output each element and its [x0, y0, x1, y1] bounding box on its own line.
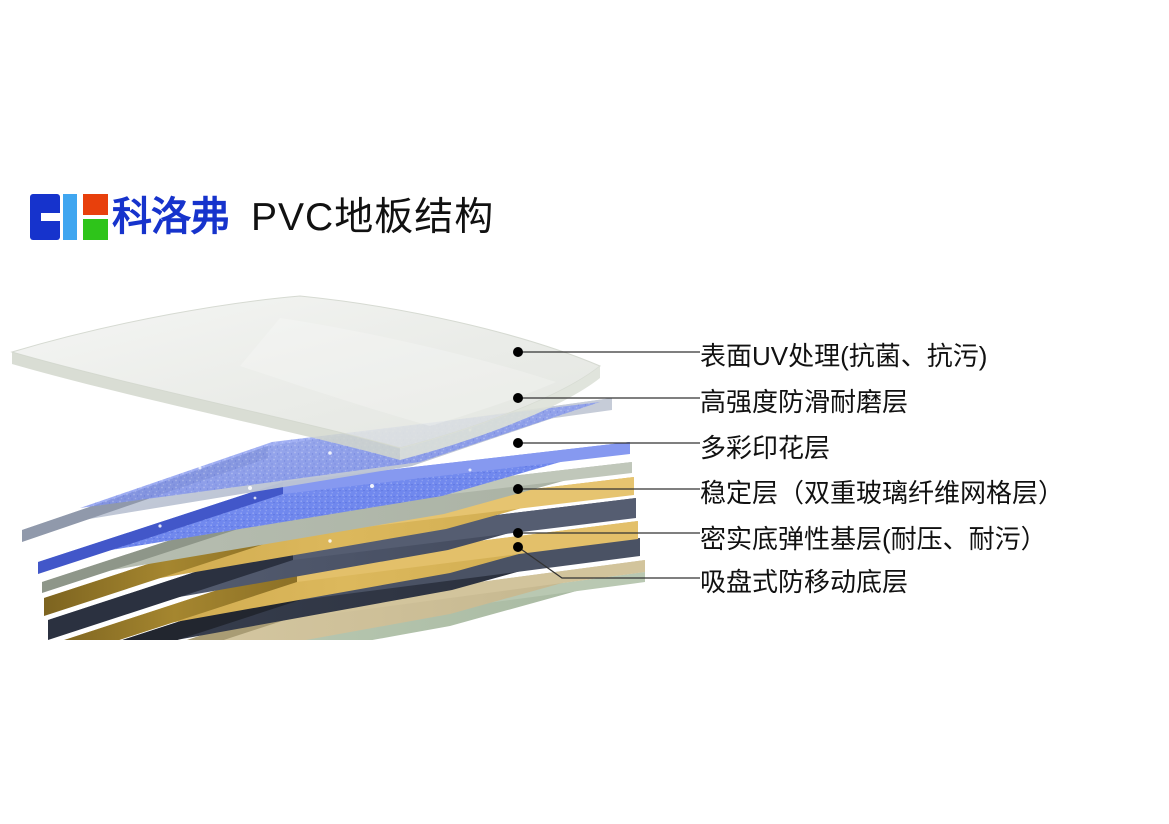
page-title: PVC地板结构	[251, 198, 494, 237]
header: 科洛弗 PVC地板结构	[30, 186, 494, 248]
logo-square-green-icon	[83, 219, 108, 240]
brand-name: 科洛弗	[112, 197, 229, 237]
layer-label-suction-bottom: 吸盘式防移动底层	[700, 562, 908, 599]
layer-label-stabilising-mesh: 稳定层（双重玻璃纤维网格层）	[700, 473, 1064, 510]
layer-label-dense-base: 密实底弹性基层(耐压、耐污）	[700, 519, 1047, 556]
leader-dot-5	[513, 542, 523, 552]
layer-label-wear-layer: 高强度防滑耐磨层	[700, 382, 908, 419]
brand-logo-mark	[30, 194, 108, 240]
logo-square-orange-icon	[83, 194, 108, 215]
logo-c-shape-icon	[30, 194, 60, 240]
leader-dot-0	[513, 347, 523, 357]
leader-dot-4	[513, 528, 523, 538]
logo-c-notch	[41, 213, 62, 221]
pvc-floor-structure-infographic: 科洛弗 PVC地板结构	[0, 0, 1169, 824]
leader-dot-1	[513, 393, 523, 403]
layer-plate-uv-coating	[12, 296, 600, 460]
leader-dot-2	[513, 438, 523, 448]
layer-label-printed-film: 多彩印花层	[700, 428, 830, 465]
logo-bar-icon	[63, 194, 77, 240]
leader-dot-3	[513, 484, 523, 494]
layer-stack-diagram	[0, 290, 700, 640]
layer-label-surface-uv: 表面UV处理(抗菌、抗污)	[700, 336, 987, 373]
